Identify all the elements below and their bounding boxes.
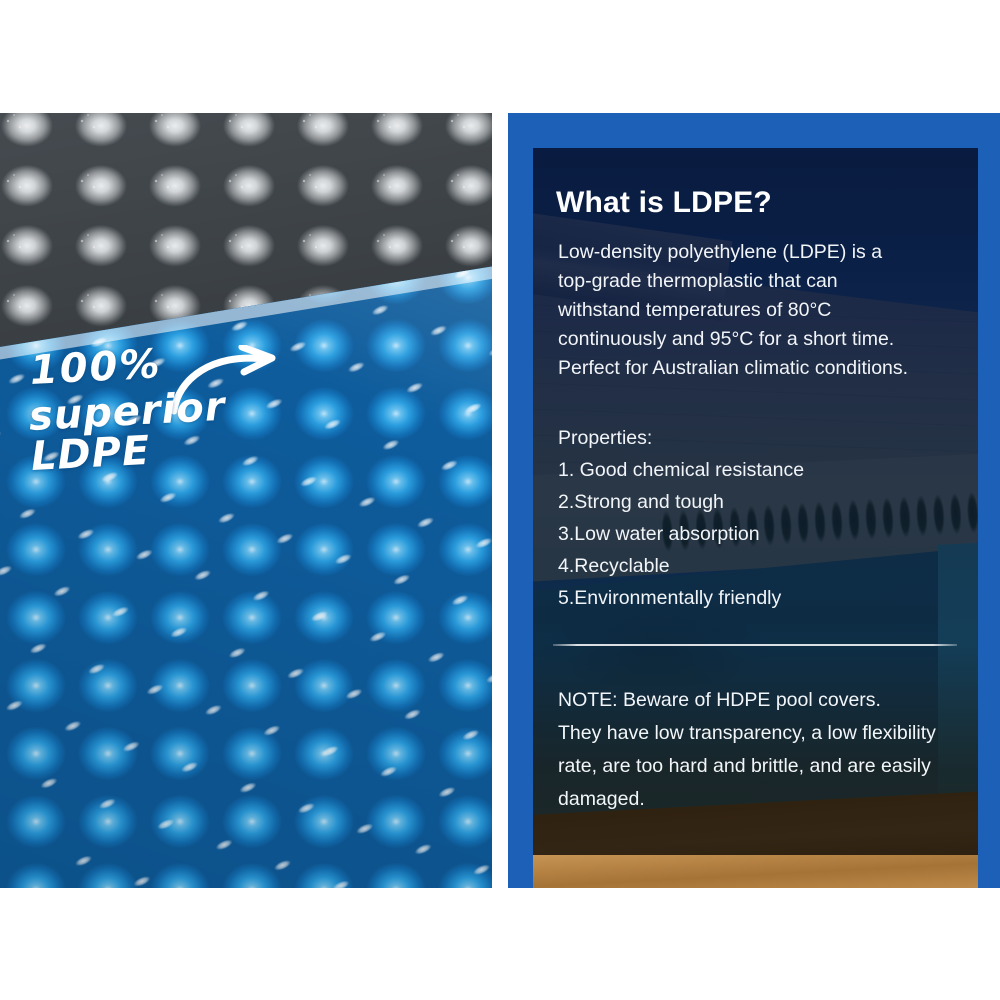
list-item: 5.Environmentally friendly bbox=[558, 582, 958, 614]
description-line: Perfect for Australian climatic conditio… bbox=[558, 354, 958, 383]
section-divider bbox=[553, 644, 957, 646]
properties-heading: Properties: bbox=[558, 422, 958, 454]
list-item: 1. Good chemical resistance bbox=[558, 454, 958, 486]
description-line: withstand temperatures of 80°C bbox=[558, 296, 958, 325]
panel-frame-top bbox=[508, 113, 1000, 148]
note-line: damaged. bbox=[558, 783, 962, 816]
pool-cover-material-image: 100% superior LDPE bbox=[0, 113, 492, 888]
ldpe-info-panel: What is LDPE? Low-density polyethylene (… bbox=[508, 113, 1000, 888]
ldpe-description: Low-density polyethylene (LDPE) is a top… bbox=[558, 238, 958, 383]
note-line: rate, are too hard and brittle, and are … bbox=[558, 750, 962, 783]
list-item: 4.Recyclable bbox=[558, 550, 958, 582]
description-line: continuously and 95°C for a short time. bbox=[558, 325, 958, 354]
page-title: What is LDPE? bbox=[556, 186, 772, 220]
panel-frame-left bbox=[508, 113, 533, 888]
panel-frame-right bbox=[978, 113, 1000, 888]
product-infographic: 100% superior LDPE What is LDPE? Low-d bbox=[0, 0, 1000, 1000]
list-item: 2.Strong and tough bbox=[558, 486, 958, 518]
properties-section: Properties: 1. Good chemical resistance … bbox=[558, 422, 958, 614]
curved-arrow-icon bbox=[168, 345, 298, 415]
description-line: Low-density polyethylene (LDPE) is a bbox=[558, 238, 958, 267]
description-line: top-grade thermoplastic that can bbox=[558, 267, 958, 296]
properties-list: 1. Good chemical resistance 2.Strong and… bbox=[558, 454, 958, 614]
note-line: They have low transparency, a low flexib… bbox=[558, 717, 962, 750]
note-line: NOTE: Beware of HDPE pool covers. bbox=[558, 684, 962, 717]
list-item: 3.Low water absorption bbox=[558, 518, 958, 550]
note-section: NOTE: Beware of HDPE pool covers. They h… bbox=[558, 684, 962, 816]
